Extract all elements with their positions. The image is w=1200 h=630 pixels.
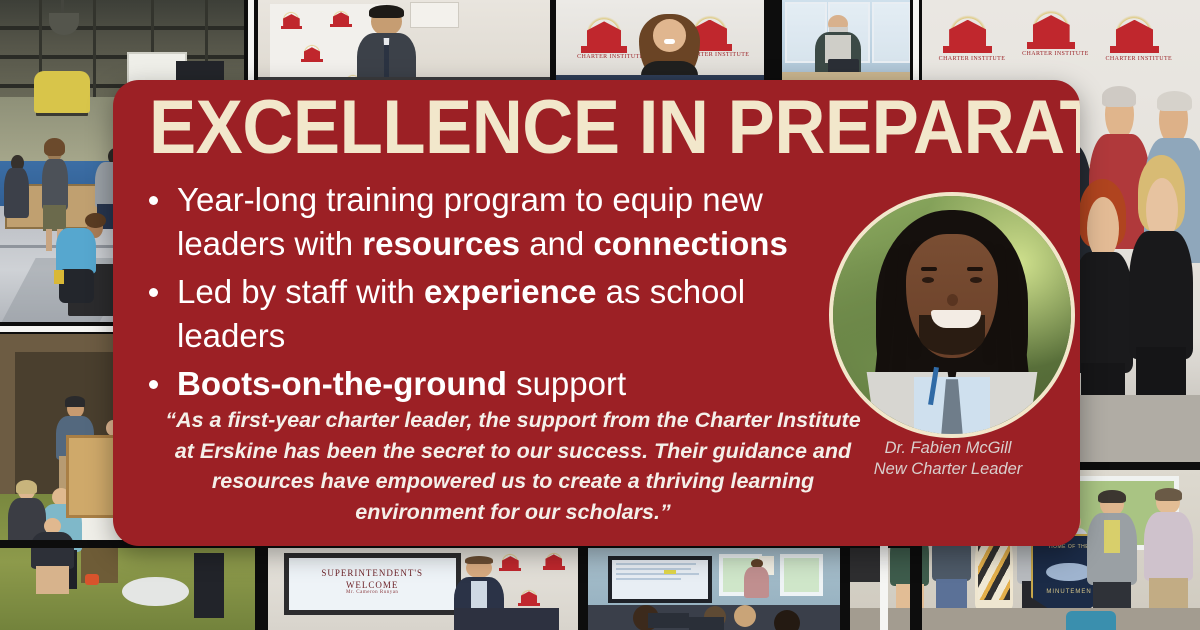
testimonial-quote: “As a first-year charter leader, the sup… bbox=[153, 405, 873, 527]
list-item: Led by staff with experience as school l… bbox=[135, 270, 835, 358]
list-item: Boots-on-the-ground support bbox=[135, 362, 835, 406]
logo-caption: CHARTER INSTITUTE bbox=[1022, 51, 1080, 57]
attribution: Dr. Fabien McGill New Charter Leader bbox=[829, 438, 1067, 481]
poster-stage: CHARTER INSTITUTE CHARTER INSTITUTE bbox=[0, 0, 1200, 630]
photo-bearded-man-with-laptop-at-window bbox=[782, 0, 910, 92]
bullet-text-2: Boots-on-the-ground support bbox=[177, 365, 626, 402]
logo-caption: CHARTER INSTITUTE bbox=[1105, 56, 1163, 62]
photo-training-room-with-laptops bbox=[588, 546, 840, 630]
bullet-text-0: Year-long training program to equip new … bbox=[177, 181, 788, 262]
logo-caption: CHARTER INSTITUTE bbox=[939, 56, 997, 62]
page-title: EXCELLENCE IN PREPARATION bbox=[149, 90, 1080, 166]
divider bbox=[913, 0, 919, 92]
slide-subtitle: Mr. Cameron Runyan bbox=[289, 590, 456, 595]
divider bbox=[248, 0, 254, 92]
feature-bullet-list: Year-long training program to equip new … bbox=[135, 178, 835, 409]
divider bbox=[578, 546, 588, 630]
divider bbox=[764, 0, 782, 92]
slide-title-line-1: SUPERINTENDENT'S bbox=[289, 568, 456, 578]
divider bbox=[840, 546, 850, 630]
divider bbox=[880, 546, 888, 630]
avatar bbox=[829, 192, 1075, 438]
bullet-text-1: Led by staff with experience as school l… bbox=[177, 273, 745, 354]
slide-title-line-2: WELCOME bbox=[289, 580, 456, 590]
divider bbox=[550, 0, 556, 92]
logo-caption: CHARTER INSTITUTE bbox=[577, 54, 631, 60]
attribution-role: New Charter Leader bbox=[829, 459, 1067, 480]
list-item: Year-long training program to equip new … bbox=[135, 178, 835, 266]
attribution-name: Dr. Fabien McGill bbox=[829, 438, 1067, 459]
photo-superintendents-welcome-presentation: SUPERINTENDENT'S WELCOME Mr. Cameron Run… bbox=[268, 546, 578, 630]
photo-man-in-suit-at-branded-backdrop bbox=[258, 0, 550, 92]
content-card: EXCELLENCE IN PREPARATION Year-long trai… bbox=[113, 80, 1080, 546]
